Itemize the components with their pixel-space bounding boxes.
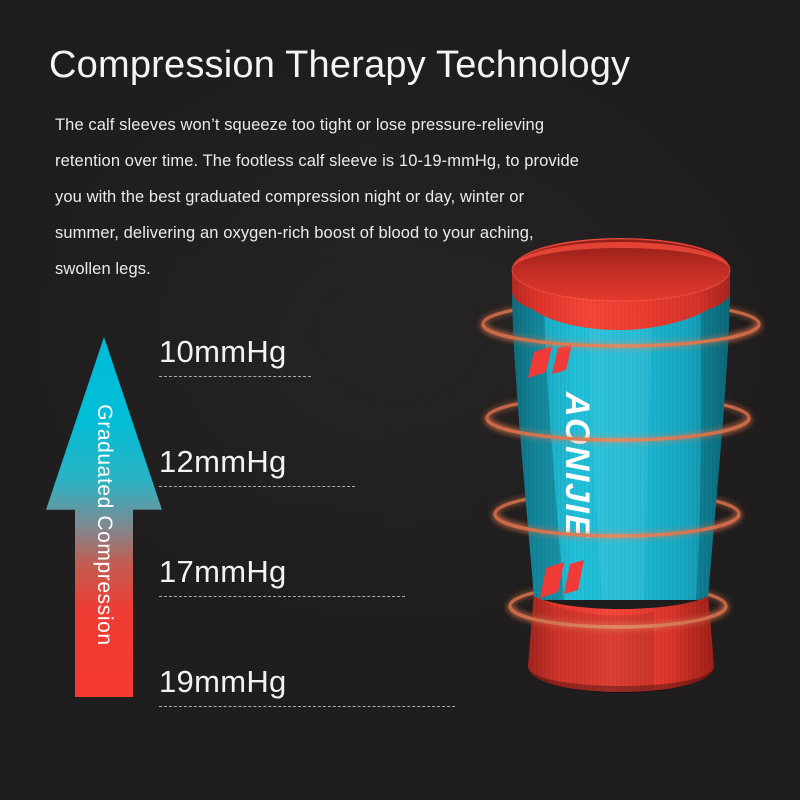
pressure-level-rule <box>159 706 455 707</box>
page-title: Compression Therapy Technology <box>49 44 630 87</box>
pressure-level-label: 17mmHg <box>159 556 405 587</box>
pressure-level-rule <box>159 486 355 487</box>
pressure-level-2: 17mmHg <box>159 556 405 597</box>
pressure-level-0: 10mmHg <box>159 336 311 377</box>
brand-wordmark: AONIJIE <box>558 391 596 539</box>
pressure-level-label: 10mmHg <box>159 336 311 367</box>
pressure-level-rule <box>159 376 311 377</box>
graduated-compression-arrow: Graduated Compression <box>46 337 162 697</box>
arrow-label: Graduated Compression <box>92 404 116 645</box>
pressure-level-label: 19mmHg <box>159 666 455 697</box>
product-infographic: Compression Therapy Technology The calf … <box>0 0 800 800</box>
pressure-level-rule <box>159 596 405 597</box>
pressure-level-3: 19mmHg <box>159 666 455 707</box>
product-image-calf-sleeve: AONIJIE <box>468 196 774 708</box>
pressure-level-label: 12mmHg <box>159 446 355 477</box>
pressure-level-1: 12mmHg <box>159 446 355 487</box>
